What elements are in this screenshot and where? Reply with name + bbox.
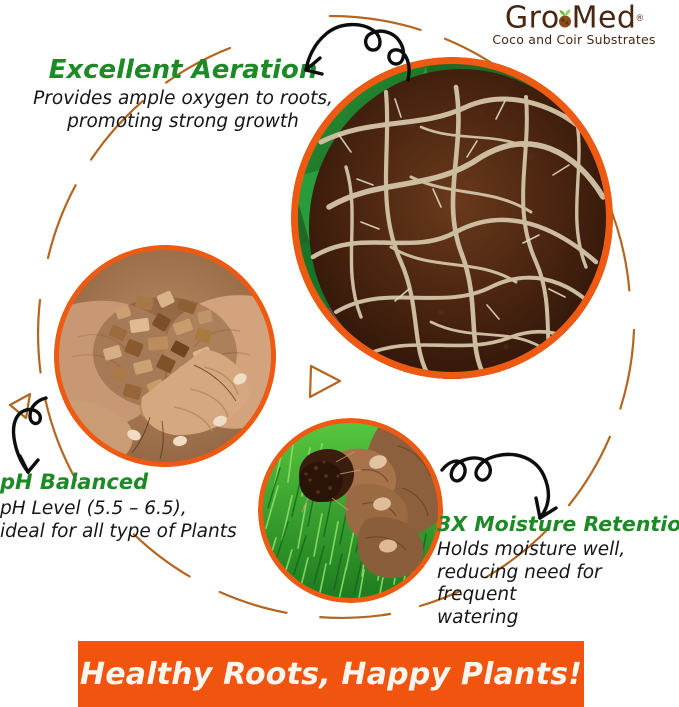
seedling-sprout-icon bbox=[554, 6, 576, 28]
banner-text: Healthy Roots, Happy Plants! bbox=[80, 657, 582, 692]
feature-text-moisture: 3X Moisture Retention Holds moisture wel… bbox=[437, 512, 679, 629]
feature-text-ph: pH Balanced pH Level (5.5 – 6.5), ideal … bbox=[0, 470, 250, 543]
logo-wordmark: Gro-Med® bbox=[505, 2, 643, 34]
logo-registered-mark: ® bbox=[636, 13, 643, 23]
feature-heading-aeration: Excellent Aeration bbox=[18, 55, 348, 85]
feature-body-aeration: Provides ample oxygen to roots, promotin… bbox=[18, 88, 348, 133]
bottom-banner: Healthy Roots, Happy Plants! bbox=[78, 641, 584, 707]
feature-heading-ph: pH Balanced bbox=[0, 470, 250, 494]
feature-heading-moisture: 3X Moisture Retention bbox=[437, 512, 679, 536]
brand-logo: Gro-Med® Coco and Coir Substrates bbox=[479, 2, 669, 47]
orange-ring-border bbox=[54, 245, 276, 467]
feature-body-moisture: Holds moisture well, reducing need for f… bbox=[437, 539, 679, 629]
feature-image-ph bbox=[54, 245, 276, 467]
feature-image-moisture bbox=[258, 418, 443, 603]
infographic-canvas: Gro-Med® Coco and Coir Substrates bbox=[0, 0, 679, 707]
orange-ring-border bbox=[258, 418, 443, 603]
feature-text-aeration: Excellent Aeration Provides ample oxygen… bbox=[18, 55, 348, 133]
feature-body-ph: pH Level (5.5 – 6.5), ideal for all type… bbox=[0, 498, 250, 543]
